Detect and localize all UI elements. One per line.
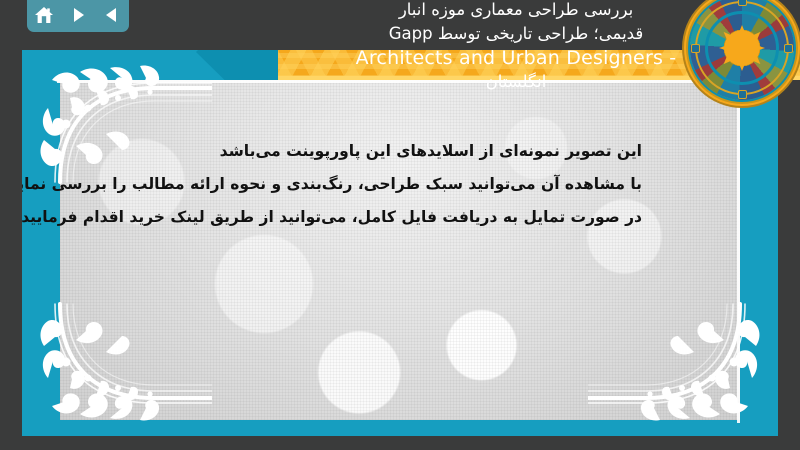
medallion-node-right xyxy=(784,44,793,53)
body-line-3: در صورت تمایل به دریافت فایل کامل، می‌تو… xyxy=(82,201,642,234)
slide-canvas xyxy=(60,80,740,420)
medallion-node-left xyxy=(691,44,700,53)
eight-point-star-icon xyxy=(719,25,765,71)
home-icon xyxy=(34,6,54,24)
body-line-1: این تصویر نمونه‌ای از اسلایدهای این پاور… xyxy=(82,135,642,168)
slide-frame: این تصویر نمونه‌ای از اسلایدهای این پاور… xyxy=(22,50,778,436)
body-line-2: با مشاهده آن می‌توانید سبک طراحی، رنگ‌بن… xyxy=(82,168,642,201)
previous-slide-button[interactable] xyxy=(99,3,125,27)
home-button[interactable] xyxy=(31,3,57,27)
persian-medallion-ornament xyxy=(690,0,794,100)
medallion-node-top xyxy=(738,0,747,6)
medallion-node-bottom xyxy=(738,90,747,99)
slide-viewer: این تصویر نمونه‌ای از اسلایدهای این پاور… xyxy=(0,0,800,450)
next-slide-button[interactable] xyxy=(65,3,91,27)
triangle-right-icon xyxy=(69,6,87,24)
slide-navigation-bar[interactable] xyxy=(27,0,129,32)
triangle-left-icon xyxy=(103,6,121,24)
slide-body-text: این تصویر نمونه‌ای از اسلایدهای این پاور… xyxy=(82,135,642,234)
